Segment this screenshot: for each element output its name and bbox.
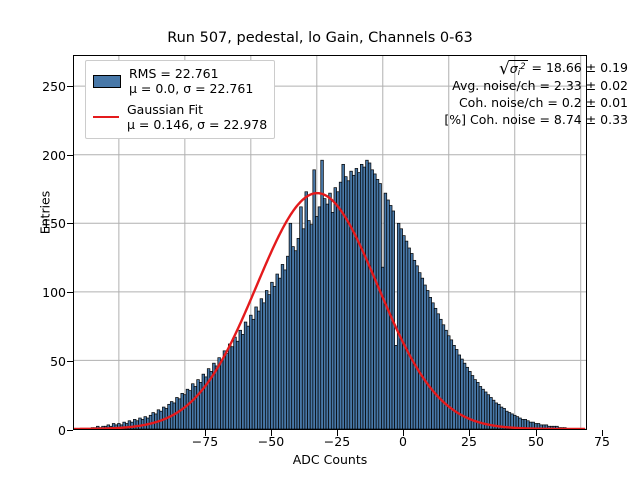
matplotlib-figure: Run 507, pedestal, lo Gain, Channels 0-6… [0,0,640,480]
annotation-coh-noise: Coh. noise/ch = 0.2 ± 0.01 [444,95,628,112]
legend-fit-line1: Gaussian Fit [127,102,203,117]
annotation-coh-noise-pct: [%] Coh. noise = 8.74 ± 0.33 [444,112,628,129]
x-tick-label-neg50: −50 [241,434,301,449]
x-axis-label: ADC Counts [73,452,587,467]
legend-entry-fit-text: Gaussian Fit μ = 0.146, σ = 22.978 [127,102,267,133]
y-tick-label-50: 50 [8,354,66,369]
x-tick-mark [536,430,537,436]
y-tick-mark [67,430,73,431]
legend-hist-line2: μ = 0.0, σ = 22.761 [129,81,253,96]
histogram-swatch-icon [93,75,121,88]
legend-entry-histogram: RMS = 22.761 μ = 0.0, σ = 22.761 [93,66,267,97]
noise-annotation-block: √σi2 = 18.66 ± 0.19 Avg. noise/ch = 2.33… [444,59,628,129]
legend-fit-line2: μ = 0.146, σ = 22.978 [127,117,267,132]
annotation-rms-noise-value: = 18.66 ± 0.19 [532,60,628,75]
y-axis-label: Entries [38,153,53,273]
annotation-rms-noise: √σi2 = 18.66 ± 0.19 [444,59,628,78]
y-tick-label-0: 0 [8,423,66,438]
x-tick-mark [469,430,470,436]
legend-hist-line1: RMS = 22.761 [129,66,219,81]
legend-entry-fit: Gaussian Fit μ = 0.146, σ = 22.978 [93,102,267,133]
x-tick-label-75: 75 [572,434,632,449]
x-tick-mark [205,430,206,436]
x-tick-label-0: 0 [373,434,433,449]
sqrt-sigma-squared-symbol: √σi2 [499,59,528,78]
x-tick-mark [403,430,404,436]
x-tick-label-50: 50 [506,434,566,449]
page-title: Run 507, pedestal, lo Gain, Channels 0-6… [0,30,640,46]
legend[interactable]: RMS = 22.761 μ = 0.0, σ = 22.761 Gaussia… [85,60,275,139]
x-tick-mark [337,430,338,436]
annotation-avg-noise: Avg. noise/ch = 2.33 ± 0.02 [444,78,628,95]
x-tick-mark [271,430,272,436]
y-tick-label-100: 100 [8,285,66,300]
x-tick-label-neg75: −75 [175,434,235,449]
x-tick-label-neg25: −25 [307,434,367,449]
x-tick-label-25: 25 [439,434,499,449]
legend-entry-histogram-text: RMS = 22.761 μ = 0.0, σ = 22.761 [129,66,253,97]
x-tick-mark [602,430,603,436]
fit-line-swatch-icon [93,116,119,118]
y-tick-label-250: 250 [8,79,66,94]
